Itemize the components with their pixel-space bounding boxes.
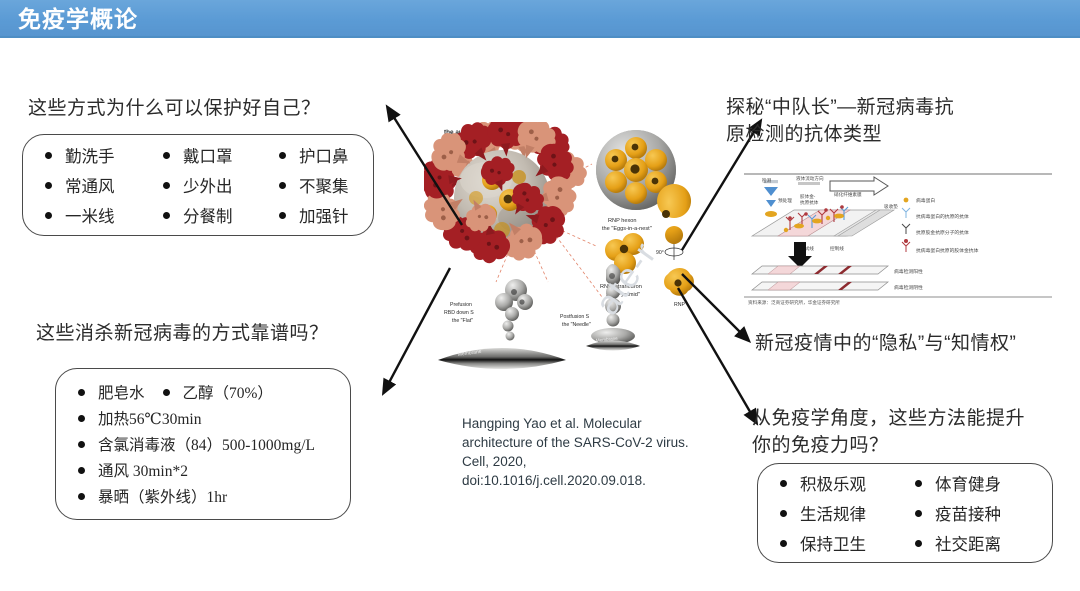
svg-text:液体流动方向: 液体流动方向 bbox=[796, 175, 824, 182]
disinfection-methods-box: 肥皂水 乙醇（70%） 加热56℃30min 含氯消毒液（84）500-1000… bbox=[55, 368, 351, 520]
antigen-legend: 病毒蛋白 抗病毒蛋白的抗原的抗体 抗原胶金抗原分子的抗体 抗病毒蛋白抗原的胶体金… bbox=[902, 197, 979, 254]
antigen-test-diagram: 检测 液体流动方向 预处理 胶体金- 抗原抗体 硝化纤维素膜 吸收垫 测试线 控… bbox=[738, 170, 1058, 305]
question-kill-text: 这些消杀新冠病毒的方式靠谱吗？ bbox=[36, 320, 329, 347]
bullet-icon bbox=[163, 152, 170, 159]
bullet-icon bbox=[915, 540, 922, 547]
question-protect-text: 这些方式为什么可以保护好自己？ bbox=[28, 95, 321, 122]
list-item: 通风 30min*2 bbox=[78, 457, 350, 483]
list-item: 疫苗接种 bbox=[915, 498, 1052, 528]
bullet-icon bbox=[279, 152, 286, 159]
bullet-icon bbox=[915, 510, 922, 517]
bullet-icon bbox=[45, 212, 52, 219]
list-item-label: 加热56℃30min bbox=[98, 407, 201, 429]
immune-boost-grid: 积极乐观 体育健身 生活规律 疫苗接种 保持卫生 社交距离 bbox=[758, 464, 1052, 562]
list-item-label: 常通风 bbox=[65, 173, 115, 197]
bullet-icon bbox=[45, 152, 52, 159]
bullet-icon bbox=[163, 212, 170, 219]
list-item: 生活规律 bbox=[780, 498, 915, 528]
virion-particle bbox=[424, 122, 595, 269]
label-postfusion-sub: the "Needle" bbox=[562, 322, 591, 328]
svg-text:控制线: 控制线 bbox=[830, 245, 844, 252]
list-item: 不聚集 bbox=[279, 170, 373, 200]
list-item-label: 疫苗接种 bbox=[935, 501, 1001, 525]
list-item: 戴口罩 bbox=[163, 140, 279, 170]
list-item: 加热56℃30min bbox=[78, 405, 350, 431]
list-item: 暴晒（紫外线）1hr bbox=[78, 483, 350, 509]
list-item-label: 暴晒（紫外线）1hr bbox=[98, 485, 227, 507]
list-item-label: 保持卫生 bbox=[800, 531, 866, 555]
bullet-icon bbox=[78, 389, 85, 396]
list-item: 护口鼻 bbox=[279, 140, 373, 170]
svg-text:病毒检测阳性: 病毒检测阳性 bbox=[894, 268, 923, 275]
slide-header-bar: 免疫学概论 bbox=[0, 0, 1080, 38]
list-item: 一米线 bbox=[45, 200, 163, 230]
list-item: 加强针 bbox=[279, 200, 373, 230]
list-item: 社交距离 bbox=[915, 528, 1052, 558]
list-item-label: 戴口罩 bbox=[183, 143, 233, 167]
svg-text:检测: 检测 bbox=[762, 177, 772, 184]
bullet-icon bbox=[279, 182, 286, 189]
list-item: 肥皂水 乙醇（70%） bbox=[78, 379, 350, 405]
prefusion-s-inset: Prefusion RBD down S the "Flat" Membrane bbox=[438, 279, 566, 369]
list-item: 积极乐观 bbox=[780, 468, 915, 498]
list-item-label: 社交距离 bbox=[935, 531, 1001, 555]
svg-text:抗原抗体: 抗原抗体 bbox=[800, 199, 819, 206]
bullet-icon bbox=[279, 212, 286, 219]
sample-drop bbox=[764, 180, 778, 217]
immune-boost-box: 积极乐观 体育健身 生活规律 疫苗接种 保持卫生 社交距离 bbox=[757, 463, 1053, 563]
list-item-label: 乙醇（70%） bbox=[183, 381, 273, 403]
list-item-label: 少外出 bbox=[183, 173, 233, 197]
protect-measures-grid: 勤洗手 戴口罩 护口鼻 常通风 少外出 不聚集 一米线 分餐制 加强针 bbox=[23, 135, 373, 235]
list-item: 保持卫生 bbox=[780, 528, 915, 558]
result-strip-negative: 病毒检测阴性 bbox=[752, 282, 923, 291]
list-item: 体育健身 bbox=[915, 468, 1052, 498]
figure-citation: Hangping Yao et al. Molecular architectu… bbox=[462, 414, 692, 490]
label-prefusion-sub2: the "Flat" bbox=[452, 318, 473, 324]
list-item-label: 含氯消毒液（84）500-1000mg/L bbox=[98, 433, 315, 455]
question-privacy-text: 新冠疫情中的“隐私”与“知情权” bbox=[755, 330, 1016, 357]
rnp-single-views: 90° RNP bbox=[656, 184, 694, 308]
question-boost-text: 从免疫学角度，这些方法能提升 你的免疫力吗？ bbox=[752, 405, 1025, 459]
svg-text:抗原胶金抗原分子的抗体: 抗原胶金抗原分子的抗体 bbox=[916, 229, 969, 236]
svg-text:胶体金-: 胶体金- bbox=[800, 193, 816, 200]
page-title: 免疫学概论 bbox=[18, 3, 138, 35]
bullet-icon bbox=[163, 182, 170, 189]
label-rnp: RNP bbox=[674, 302, 685, 308]
label-postfusion: Postfusion S bbox=[560, 314, 590, 320]
antigen-source-note: 资料来源：泛商证劵研究所，华金证券研究所 bbox=[748, 299, 840, 305]
list-item: 勤洗手 bbox=[45, 140, 163, 170]
list-item-label: 体育健身 bbox=[935, 471, 1001, 495]
list-item-label: 护口鼻 bbox=[299, 143, 349, 167]
list-item-label: 分餐制 bbox=[183, 203, 233, 227]
question-antigen-text: 探秘“中队长”—新冠病毒抗 原检测的抗体类型 bbox=[726, 94, 954, 148]
label-prefusion-sub: RBD down S bbox=[444, 310, 474, 316]
disinfection-methods-grid: 肥皂水 乙醇（70%） 加热56℃30min 含氯消毒液（84）500-1000… bbox=[56, 369, 350, 519]
svg-text:病毒检测阴性: 病毒检测阴性 bbox=[894, 284, 923, 291]
svg-text:硝化纤维素膜: 硝化纤维素膜 bbox=[834, 191, 862, 198]
list-item-label: 肥皂水 bbox=[98, 381, 145, 403]
list-item-label: 不聚集 bbox=[299, 173, 349, 197]
svg-text:抗病毒蛋白的抗原的抗体: 抗病毒蛋白的抗原的抗体 bbox=[916, 213, 969, 220]
bullet-icon bbox=[78, 467, 85, 474]
bullet-icon bbox=[163, 389, 170, 396]
svg-text:病毒蛋白: 病毒蛋白 bbox=[916, 197, 935, 204]
list-item-label: 生活规律 bbox=[800, 501, 866, 525]
bullet-icon bbox=[915, 480, 922, 487]
svg-text:抗病毒蛋白抗原的胶体金抗体: 抗病毒蛋白抗原的胶体金抗体 bbox=[916, 247, 979, 254]
list-item-label: 勤洗手 bbox=[65, 143, 115, 167]
bullet-icon bbox=[78, 441, 85, 448]
bullet-icon bbox=[45, 182, 52, 189]
list-item: 含氯消毒液（84）500-1000mg/L bbox=[78, 431, 350, 457]
list-item: 常通风 bbox=[45, 170, 163, 200]
protect-measures-box: 勤洗手 戴口罩 护口鼻 常通风 少外出 不聚集 一米线 分餐制 加强针 bbox=[22, 134, 374, 236]
list-item: 少外出 bbox=[163, 170, 279, 200]
label-prefusion: Prefusion bbox=[450, 302, 472, 308]
list-item-label: 一米线 bbox=[65, 203, 115, 227]
list-item-label: 通风 30min*2 bbox=[98, 459, 188, 481]
bullet-icon bbox=[78, 415, 85, 422]
label-rnp-hexon: RNP hexon bbox=[608, 218, 637, 224]
svg-text:预处理: 预处理 bbox=[778, 197, 792, 204]
bullet-icon bbox=[780, 540, 787, 547]
list-item: 分餐制 bbox=[163, 200, 279, 230]
bullet-icon bbox=[780, 480, 787, 487]
bullet-icon bbox=[780, 510, 787, 517]
label-rnp-hexon-sub: the "Eggs-in-a-nest" bbox=[602, 226, 652, 232]
sars-cov-2-architecture-figure: the authentic SARS-CoV-2 virus bbox=[424, 122, 710, 404]
bullet-icon bbox=[78, 493, 85, 500]
result-strip-positive: 病毒检测阳性 bbox=[752, 266, 923, 275]
svg-text:吸收垫: 吸收垫 bbox=[884, 203, 898, 210]
list-item-label: 积极乐观 bbox=[800, 471, 866, 495]
list-item-label: 加强针 bbox=[299, 203, 349, 227]
